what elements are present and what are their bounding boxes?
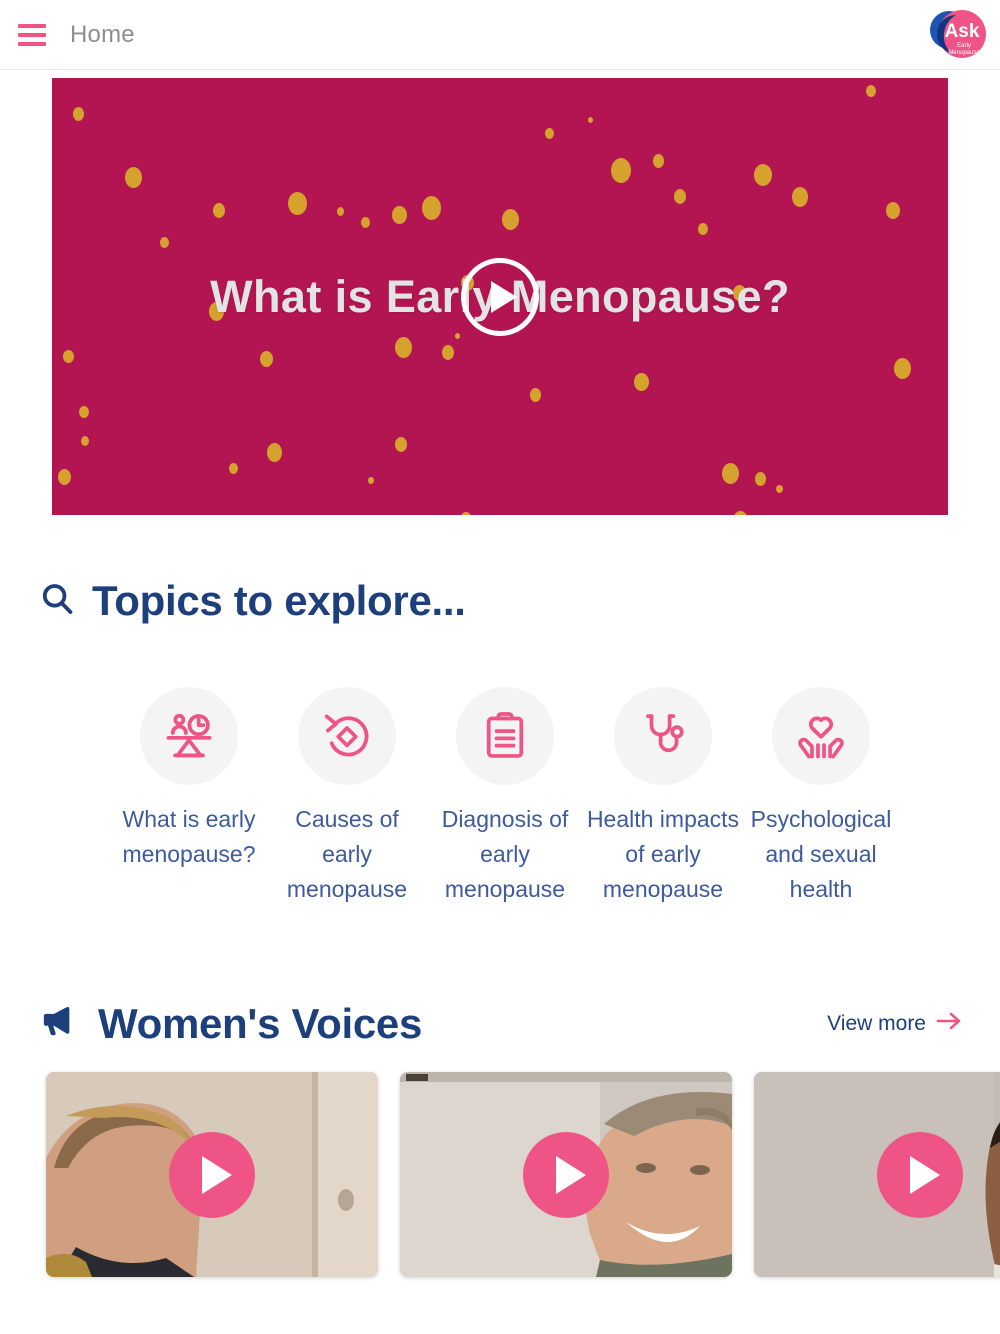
hero-video-banner[interactable]: What is Early Menopause? (52, 78, 948, 515)
topic-item-health-impacts-of-early-menopause[interactable]: Health impacts of early menopause (584, 687, 742, 907)
balance-scale-icon (140, 687, 238, 785)
play-triangle (910, 1156, 940, 1194)
voice-video-card[interactable] (754, 1072, 1000, 1277)
topics-heading: Topics to explore... (92, 577, 466, 625)
topics-section: Topics to explore... What is early menop… (0, 515, 1000, 907)
top-bar: Home Ask Early Menopause (0, 0, 1000, 70)
topic-label: Health impacts of early menopause (584, 802, 742, 907)
play-triangle (556, 1156, 586, 1194)
topic-label: Psychological and sexual health (742, 802, 900, 907)
search-icon (38, 580, 76, 623)
topic-label: What is early menopause? (110, 802, 268, 872)
stethoscope-icon (614, 687, 712, 785)
voice-video-card[interactable] (46, 1072, 378, 1277)
hero-play-icon[interactable] (461, 258, 539, 336)
hamburger-bar (18, 24, 46, 28)
topic-item-psychological-and-sexual-health[interactable]: Psychological and sexual health (742, 687, 900, 907)
voice-video-card[interactable] (400, 1072, 732, 1277)
womens-voices-section: Women's Voices View more (0, 907, 1000, 1277)
arrow-right-icon (936, 1011, 962, 1037)
topics-heading-row: Topics to explore... (38, 577, 962, 625)
hamburger-bar (18, 33, 46, 37)
topics-grid: What is early menopause? Causes of early… (38, 687, 962, 907)
play-icon[interactable] (877, 1132, 963, 1218)
view-more-link[interactable]: View more (827, 1011, 962, 1037)
hamburger-bar (18, 42, 46, 46)
topic-item-causes-of-early-menopause[interactable]: Causes of early menopause (268, 687, 426, 907)
brand-logo[interactable]: Ask Early Menopause (922, 4, 988, 66)
svg-text:Ask: Ask (945, 21, 980, 42)
topic-item-what-is-early-menopause[interactable]: What is early menopause? (110, 687, 268, 907)
topic-label: Diagnosis of early menopause (426, 802, 584, 907)
view-more-label: View more (827, 1012, 926, 1036)
svg-text:Early: Early (957, 43, 971, 49)
topic-item-diagnosis-of-early-menopause[interactable]: Diagnosis of early menopause (426, 687, 584, 907)
hamburger-menu-icon[interactable] (18, 24, 46, 46)
megaphone-icon (38, 999, 82, 1048)
play-icon[interactable] (523, 1132, 609, 1218)
play-icon[interactable] (169, 1132, 255, 1218)
play-triangle (202, 1156, 232, 1194)
breadcrumb[interactable]: Home (70, 21, 135, 49)
hands-heart-icon (772, 687, 870, 785)
rotate-history-icon (298, 687, 396, 785)
hero-video-wrapper: What is Early Menopause? (0, 78, 1000, 515)
clipboard-icon (456, 687, 554, 785)
topic-label: Causes of early menopause (268, 802, 426, 907)
svg-text:Menopause: Menopause (948, 50, 980, 56)
womens-voices-title-group: Women's Voices (38, 999, 422, 1048)
womens-voices-card-list (38, 1072, 962, 1277)
womens-voices-heading: Women's Voices (98, 1000, 422, 1048)
womens-voices-heading-row: Women's Voices View more (38, 999, 962, 1048)
play-triangle (491, 281, 517, 313)
